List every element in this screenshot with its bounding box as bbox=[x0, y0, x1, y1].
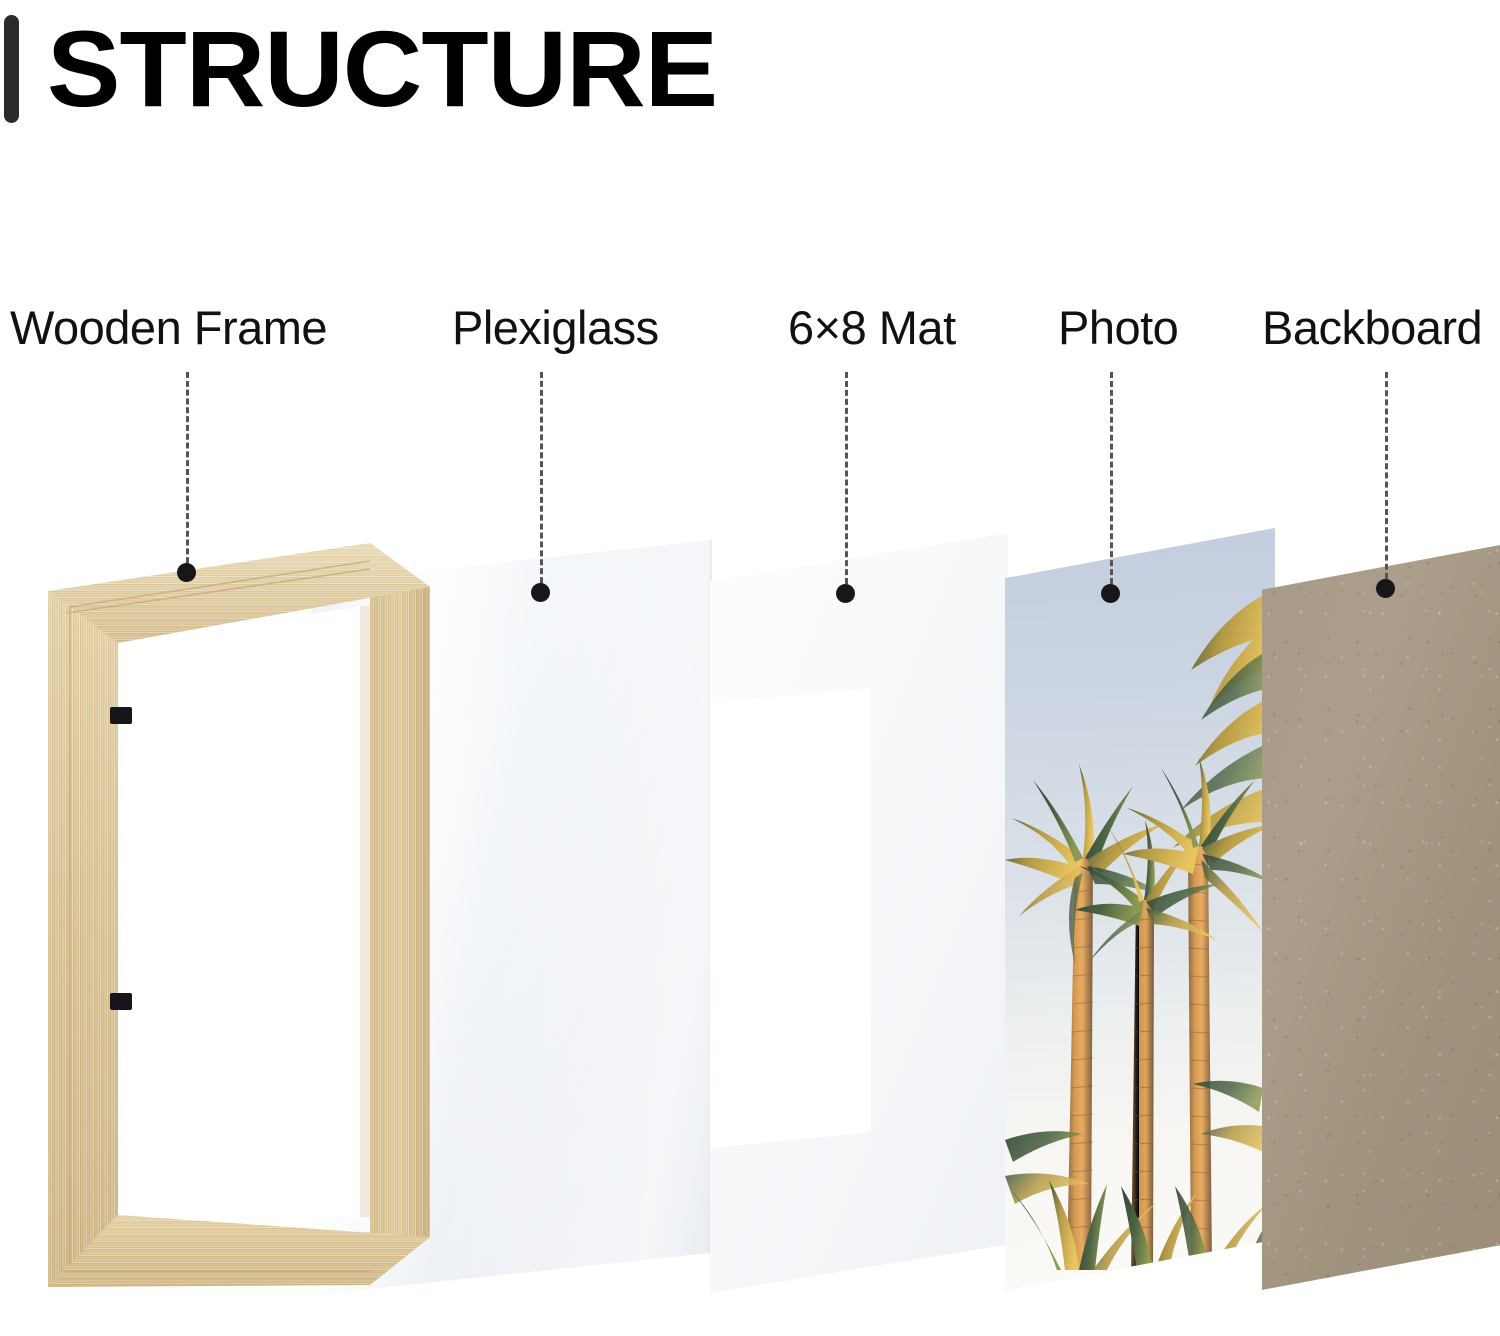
frame-clip-tab-lower bbox=[110, 993, 132, 1010]
frame-clip-tab-upper bbox=[110, 707, 132, 724]
backboard-texture bbox=[1262, 545, 1500, 1290]
frame-opening bbox=[118, 605, 370, 1217]
leader-line-mat bbox=[845, 372, 848, 593]
leader-line-wooden-frame bbox=[186, 372, 189, 572]
label-backboard: Backboard bbox=[1262, 300, 1482, 355]
mat-aperture bbox=[710, 533, 1008, 1293]
label-photo: Photo bbox=[1058, 300, 1178, 355]
label-wooden-frame: Wooden Frame bbox=[10, 300, 327, 355]
frame-side-wall bbox=[370, 543, 430, 1285]
leader-line-photo bbox=[1110, 372, 1113, 593]
layer-wooden-frame bbox=[40, 495, 430, 1325]
label-plexiglass: Plexiglass bbox=[452, 300, 659, 355]
mat-aperture-opening bbox=[710, 688, 871, 1148]
layer-photo bbox=[1005, 528, 1275, 1290]
photo-palm-trees bbox=[1005, 528, 1275, 1290]
label-mat: 6×8 Mat bbox=[788, 300, 956, 355]
leader-line-plexiglass bbox=[540, 372, 543, 592]
leader-dot-mat bbox=[836, 584, 855, 603]
leader-dot-plexiglass bbox=[531, 583, 550, 602]
leader-dot-backboard bbox=[1376, 579, 1395, 598]
leader-dot-wooden-frame bbox=[177, 563, 196, 582]
leader-dot-photo bbox=[1101, 584, 1120, 603]
exploded-view-diagram bbox=[0, 0, 1500, 1336]
leader-line-backboard bbox=[1385, 372, 1388, 588]
